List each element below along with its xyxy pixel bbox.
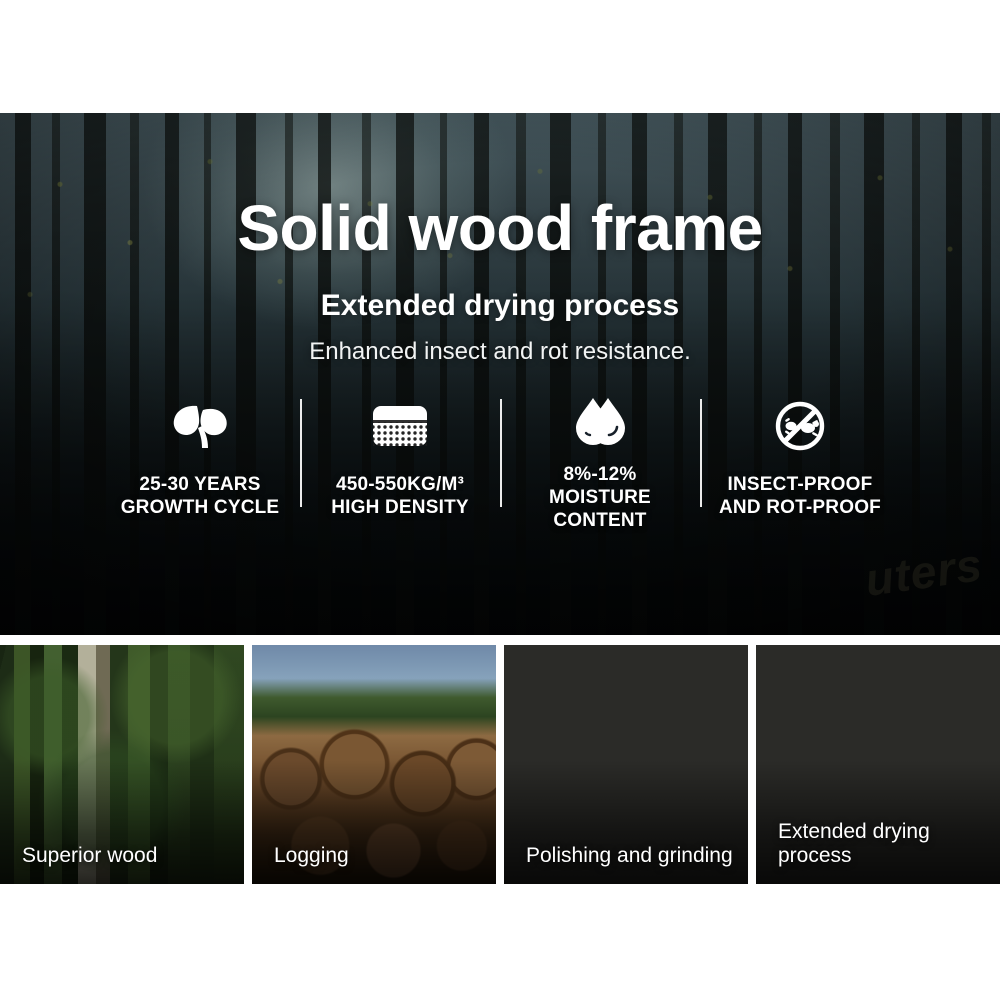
process-panel-logging[interactable]: Logging bbox=[252, 645, 496, 884]
feature-label: 450-550KG/M³ HIGH DENSITY bbox=[331, 473, 469, 519]
panel-caption: Polishing and grinding bbox=[504, 844, 748, 884]
no-insect-icon bbox=[771, 395, 829, 457]
density-block-icon bbox=[370, 395, 430, 457]
hero-title: Solid wood frame bbox=[0, 196, 1000, 260]
panel-caption: Superior wood bbox=[0, 844, 244, 884]
feature-label: INSECT-PROOF AND ROT-PROOF bbox=[719, 473, 881, 519]
hero-banner: Solid wood frame Extended drying process… bbox=[0, 113, 1000, 635]
panel-caption: Logging bbox=[252, 844, 496, 884]
hero-tagline: Enhanced insect and rot resistance. bbox=[0, 340, 1000, 364]
feature-high-density: 450-550KG/M³ HIGH DENSITY bbox=[300, 395, 500, 527]
feature-moisture-content: 8%-12% MOISTURE CONTENT bbox=[500, 395, 700, 527]
leaf-sprout-icon bbox=[170, 395, 230, 457]
feature-insect-rot-proof: INSECT-PROOF AND ROT-PROOF bbox=[700, 395, 900, 527]
process-panel-superior-wood[interactable]: Superior wood bbox=[0, 645, 244, 884]
process-photo-strip: Superior wood Logging Polishing and grin… bbox=[0, 645, 1000, 884]
process-panel-extended-drying[interactable]: Extended drying process bbox=[756, 645, 1000, 884]
feature-list: 25-30 YEARS GROWTH CYCLE bbox=[100, 395, 900, 527]
process-panel-polishing-grinding[interactable]: Polishing and grinding bbox=[504, 645, 748, 884]
water-drops-icon bbox=[570, 395, 630, 447]
feature-label: 25-30 YEARS GROWTH CYCLE bbox=[121, 473, 280, 519]
feature-label: 8%-12% MOISTURE CONTENT bbox=[500, 463, 700, 533]
hero-subtitle: Extended drying process bbox=[0, 291, 1000, 321]
panel-caption: Extended drying process bbox=[756, 820, 1000, 884]
feature-growth-cycle: 25-30 YEARS GROWTH CYCLE bbox=[100, 395, 300, 527]
